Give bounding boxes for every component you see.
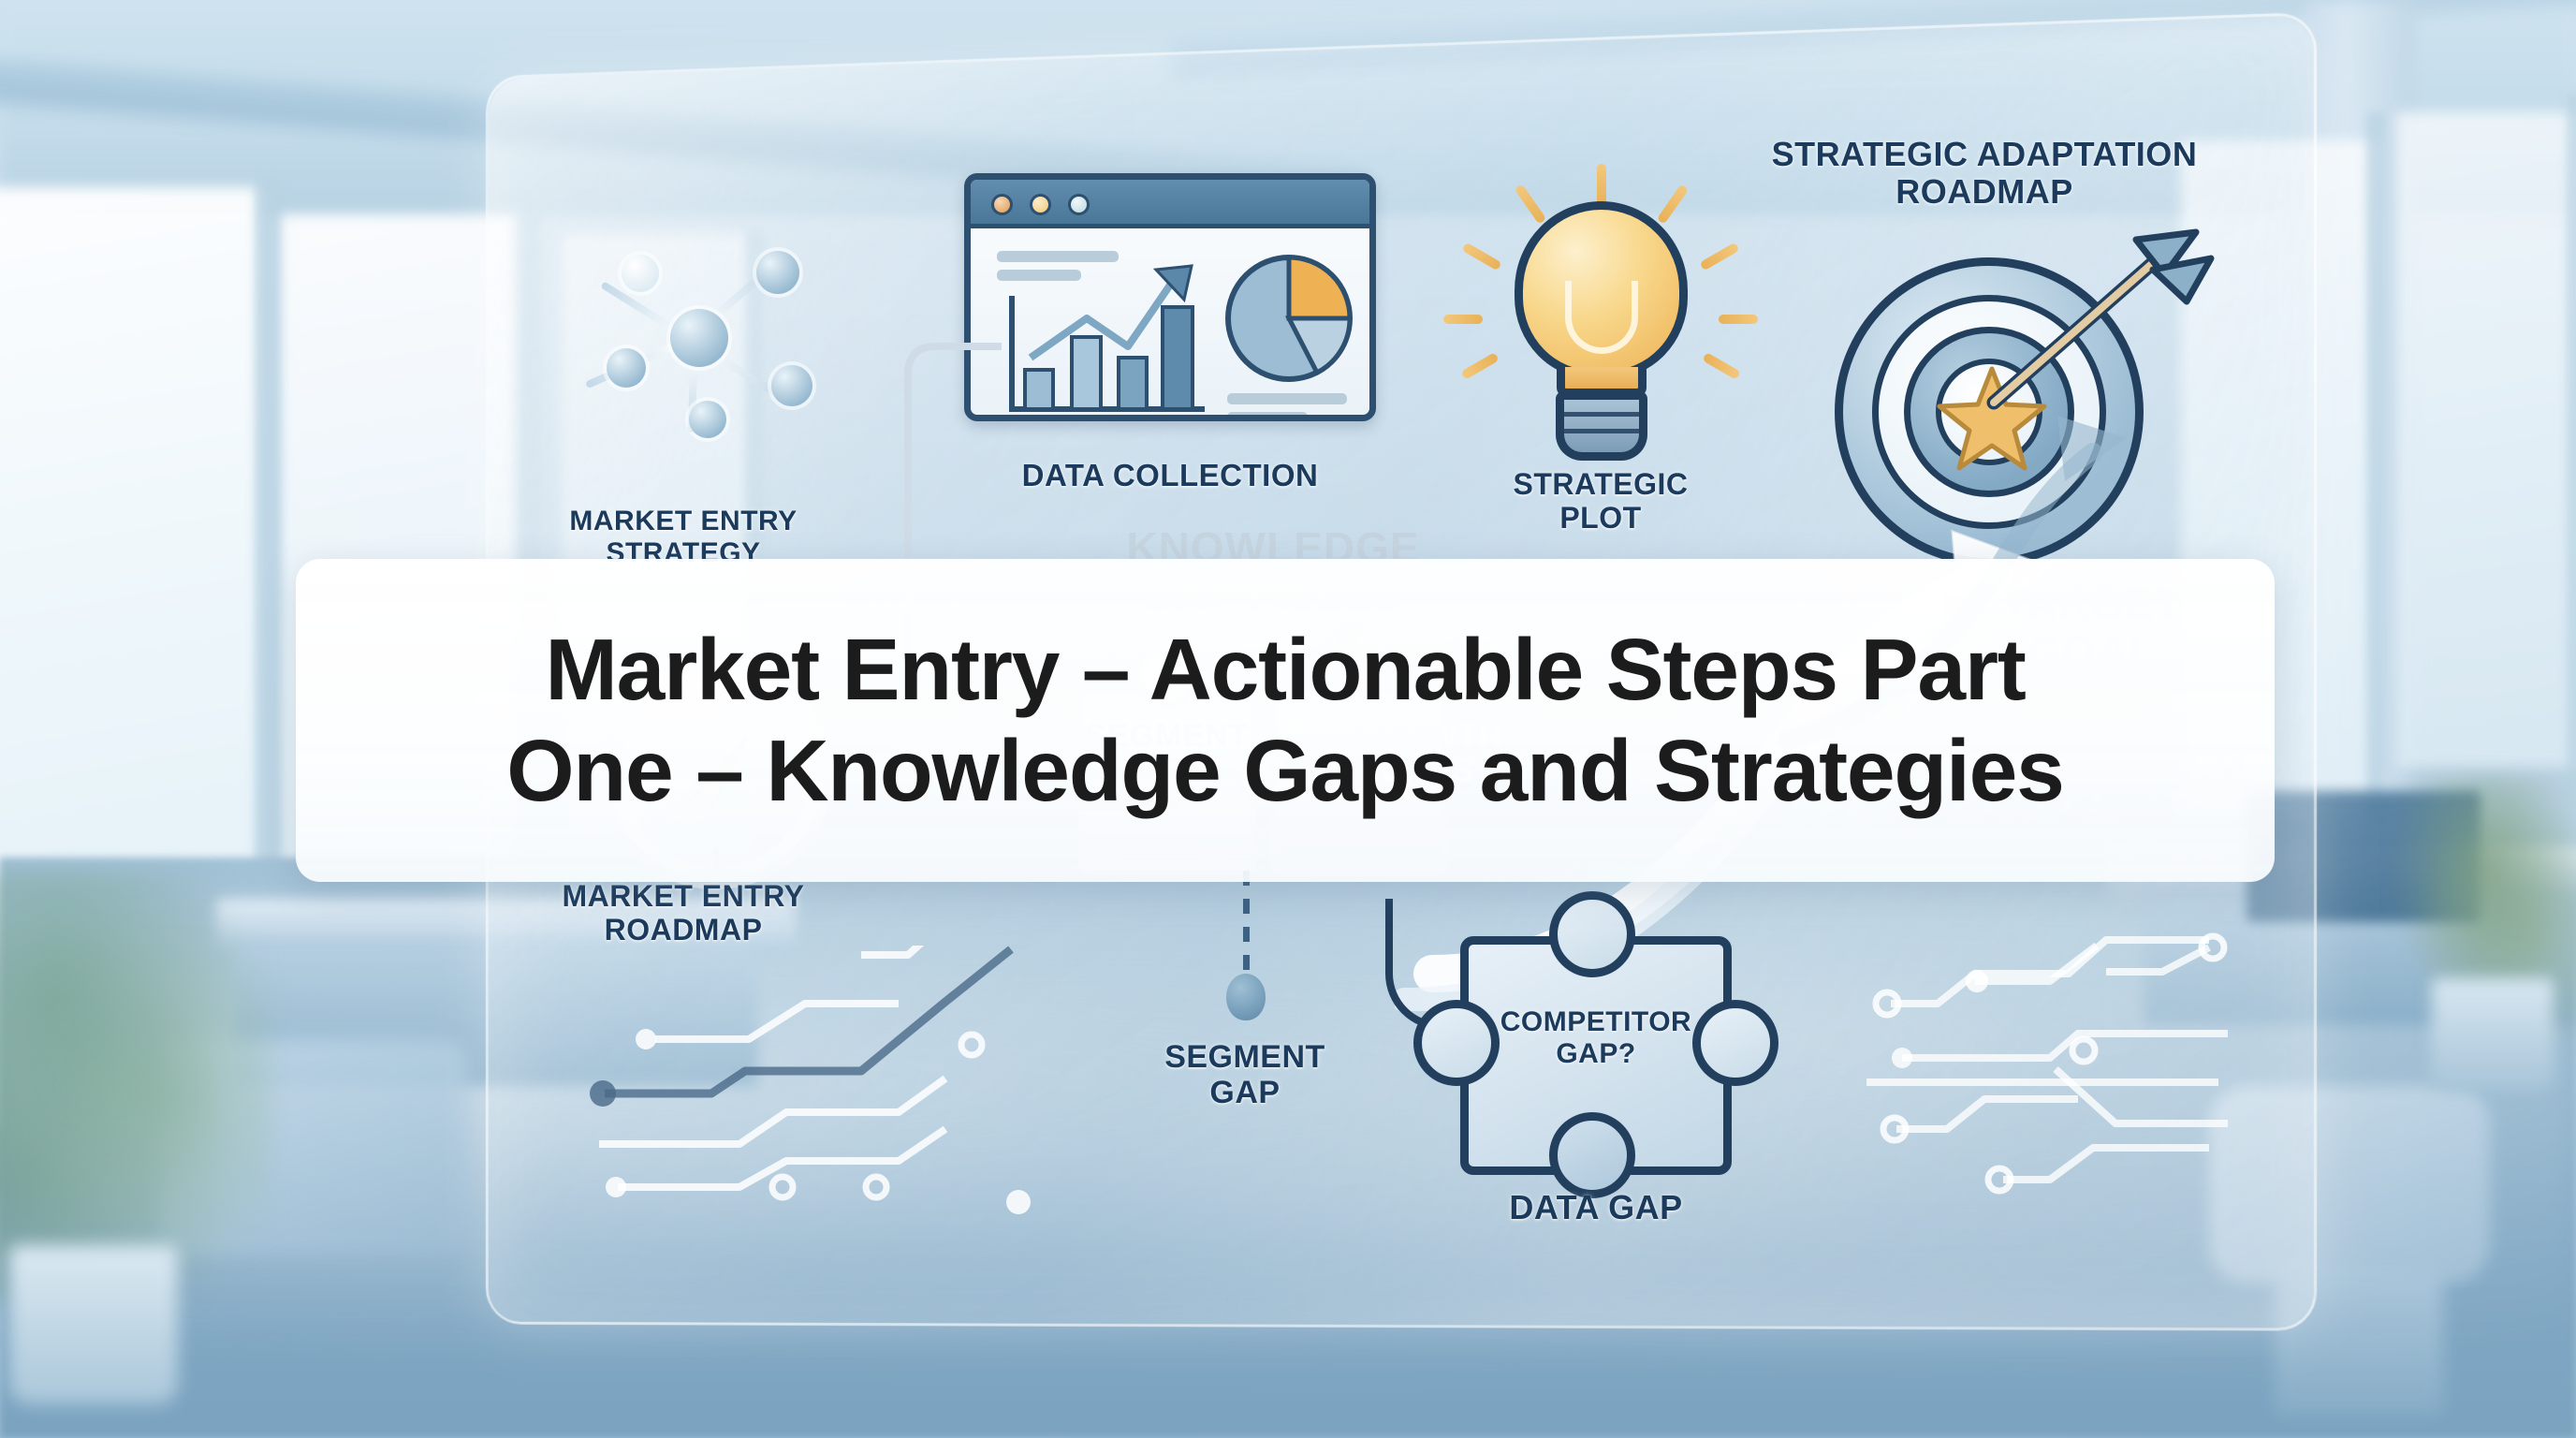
title-line-1: Market Entry – Actionable Steps Part: [545, 620, 2025, 721]
banner-image: MARKET ENTRY STRATEGY: [0, 0, 2576, 1438]
label-data-gap: DATA GAP: [1484, 1189, 1708, 1226]
label-market-entry-roadmap: MARKET ENTRY ROADMAP: [505, 880, 861, 947]
label-competitor-gap: COMPETITOR GAP?: [1484, 1006, 1708, 1069]
label-strategic-adaptation-roadmap: STRATEGIC ADAPTATION ROADMAP: [1713, 136, 2256, 212]
circuit-trace-right-icon: [1835, 899, 2321, 1208]
title-line-2: One – Knowledge Gaps and Strategies: [506, 721, 2063, 822]
map-pin-icon: [1226, 974, 1266, 1020]
label-segment-gap: SEGMENT GAP: [1114, 1039, 1376, 1110]
dotted-connector: [1243, 871, 1250, 974]
title-banner: Market Entry – Actionable Steps Part One…: [296, 559, 2275, 882]
circuit-trace-icon: [505, 946, 1105, 1217]
